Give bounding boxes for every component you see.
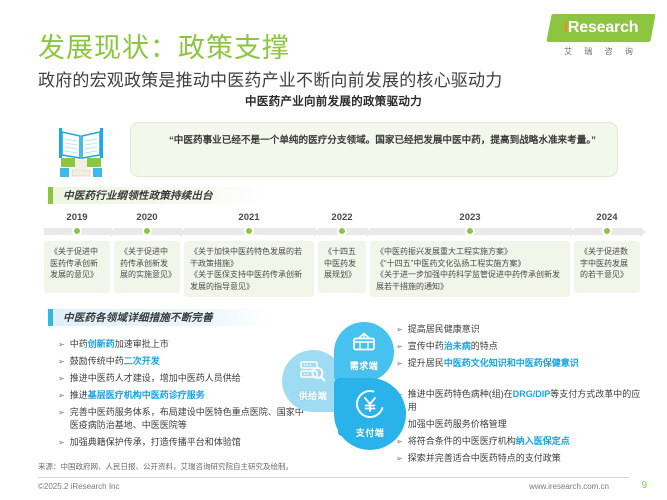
timeline-card: 《中医药振兴发展重大工程实施方案》《“十四五”中医药文化弘扬工程实施方案》《关于…: [370, 241, 570, 297]
website-url: www.iresearch.com.cn: [529, 482, 609, 491]
bullet-text: 提高居民健康意识: [408, 323, 646, 336]
bullet-text: 将符合条件的中医医疗机构纳入医保定点: [408, 435, 646, 448]
bullet-plain: 鼓励传统中药: [70, 356, 124, 366]
timeline-year-label: 2022: [318, 212, 366, 224]
quote-text: “中医药事业已经不是一个单纯的医疗分支领域。国家已经把发展中医中药，提高到战略水…: [147, 132, 601, 149]
timeline-dot: [337, 226, 347, 236]
petal-payment-side: 支付端: [334, 378, 406, 450]
logo-text: iResearch: [549, 14, 653, 42]
supply-side-bullet-list: ➢中药创新药加速审批上市➢鼓励传统中药二次开发➢推进中医药人才建设，增加中医药人…: [58, 338, 308, 453]
bullet-highlight: 创新药: [88, 339, 115, 349]
timeline-policy-item: 《中医药振兴发展重大工程实施方案》: [376, 246, 564, 258]
bullet-highlight: 基层医疗机构中医药诊疗服务: [88, 390, 205, 400]
iresearch-logo: iResearch 艾 瑞 咨 询: [549, 14, 653, 60]
bullet-item: ➢将符合条件的中医医疗机构纳入医保定点: [396, 435, 646, 448]
bullet-text: 提升居民中医药文化知识和中医药保健意识: [408, 357, 646, 370]
section-header-measures-label: 中医药各领域详细措施不断完善: [53, 309, 270, 326]
bullet-plain: 的特点: [471, 341, 498, 351]
bullet-arrow-icon: ➢: [58, 338, 65, 351]
timeline-dot: [72, 226, 82, 236]
timeline-track: [44, 224, 110, 238]
bullet-plain: 加强典籍保护传承，打造传播平台和体验馆: [70, 437, 241, 447]
page-title: 发展现状：政策支撑: [38, 26, 290, 65]
bullet-plain: 推进: [70, 390, 88, 400]
logo-subtitle-cn: 艾 瑞 咨 询: [549, 46, 653, 57]
bullet-text: 完善中医药服务体系，布局建设中医特色重点医院、国家中医疫病防治基地、中医医院等: [70, 406, 308, 432]
timeline-policy-item: 《关于促进数字中医药发展的若干意见》: [580, 246, 634, 281]
bullet-text: 推进中医药特色病种(组)在DRG/DIP等支付方式改革中的应用: [408, 388, 646, 414]
timeline-policy-item: 《关于医保支持中医药传承创新发展的指导意见》: [190, 269, 308, 292]
bullet-item: ➢完善中医药服务体系，布局建设中医特色重点医院、国家中医疫病防治基地、中医医院等: [58, 406, 308, 432]
page-number: 9: [641, 480, 647, 491]
chart-title: 中医药产业向前发展的政策驱动力: [0, 93, 667, 109]
bullet-text: 中药创新药加速审批上市: [70, 338, 308, 351]
timeline-track: [114, 224, 180, 238]
timeline-year-label: 2021: [184, 212, 314, 224]
bullet-item: ➢提升居民中医药文化知识和中医药保健意识: [396, 357, 646, 370]
timeline-policy-item: 《关于促进中医药传承创新发展的意见》: [50, 246, 104, 281]
section-header-policy-label: 中医药行业纲领性政策持续出台: [53, 187, 263, 204]
bullet-item: ➢鼓励传统中药二次开发: [58, 355, 308, 368]
bullet-item: ➢探索并完善适合中医药特点的支付政策: [396, 452, 646, 465]
timeline-dot: [142, 226, 152, 236]
timeline-year-label: 2024: [574, 212, 640, 224]
timeline-card: 《十四五中医药发展规划》: [318, 241, 366, 293]
bullet-text: 推进中医药人才建设，增加中医药人员供给: [70, 372, 308, 385]
timeline-card: 《关于加快中医药特色发展的若干政策措施》《关于医保支持中医药传承创新发展的指导意…: [184, 241, 314, 297]
demand-side-bullet-list: ➢提高居民健康意识➢宣传中药治未病的特点➢提升居民中医药文化知识和中医药保健意识: [396, 323, 646, 374]
bullet-highlight: 治未病: [444, 341, 471, 351]
bullet-plain: 提高居民健康意识: [408, 324, 480, 334]
server-search-icon: [300, 360, 326, 387]
bullet-item: ➢宣传中药治未病的特点: [396, 340, 646, 353]
bullet-text: 鼓励传统中药二次开发: [70, 355, 308, 368]
bullet-arrow-icon: ➢: [58, 436, 65, 449]
footer-divider: [38, 477, 629, 478]
bullet-text: 加强典籍保护传承，打造传播平台和体验馆: [70, 436, 308, 449]
timeline-column-2019: 2019《关于促进中医药传承创新发展的意见》: [44, 212, 110, 300]
open-book-icon: [54, 124, 108, 180]
timeline-column-2020: 2020《关于促进中药传承创新发展的实施意见》: [114, 212, 180, 300]
petal-supply-label: 供给端: [299, 389, 328, 402]
bullet-arrow-icon: ➢: [58, 406, 65, 419]
petal-payment-label: 支付端: [356, 426, 385, 439]
timeline-policy-item: 《关于促进中药传承创新发展的实施意见》: [120, 246, 174, 281]
timeline-column-2023: 2023《中医药振兴发展重大工程实施方案》《“十四五”中医药文化弘扬工程实施方案…: [370, 212, 570, 300]
timeline-dot: [465, 226, 475, 236]
timeline-column-2024: 2024《关于促进数字中医药发展的若干意见》: [574, 212, 640, 300]
timeline-dot: [244, 226, 254, 236]
bullet-arrow-icon: ➢: [58, 389, 65, 402]
bullet-plain: 推进中医药人才建设，增加中医药人员供给: [70, 373, 241, 383]
bullet-arrow-icon: ➢: [58, 355, 65, 368]
timeline-policy-item: 《十四五中医药发展规划》: [324, 246, 360, 281]
logo-main-text: Research: [568, 19, 638, 37]
bullet-plain: 加速审批上市: [115, 339, 169, 349]
timeline-card: 《关于促进中医药传承创新发展的意见》: [44, 241, 110, 293]
timeline-column-2022: 2022《十四五中医药发展规划》: [318, 212, 366, 300]
bullet-text: 加强中医药服务价格管理: [408, 418, 646, 431]
bullet-highlight: 二次开发: [124, 356, 160, 366]
shopping-basket-icon: [352, 332, 376, 357]
bullet-text: 探索并完善适合中医药特点的支付政策: [408, 452, 646, 465]
bullet-plain: 中药: [70, 339, 88, 349]
bullet-item: ➢推进中医药特色病种(组)在DRG/DIP等支付方式改革中的应用: [396, 388, 646, 414]
slide-root: 发展现状：政策支撑 政府的宏观政策是推动中医药产业不断向前发展的核心驱动力 iR…: [0, 0, 667, 500]
bullet-highlight: DRG/DIP: [513, 389, 551, 399]
timeline-track: [184, 224, 314, 238]
bullet-plain: 将符合条件的中医医疗机构: [408, 436, 516, 446]
three-sides-plant-diagram: 供给端 需求端: [282, 322, 414, 454]
bullet-text: 推进基层医疗机构中医药诊疗服务: [70, 389, 308, 402]
timeline-year-label: 2019: [44, 212, 110, 224]
section-header-policy: 中医药行业纲领性政策持续出台: [48, 187, 263, 204]
bullet-item: ➢中药创新药加速审批上市: [58, 338, 308, 351]
timeline-track: [370, 224, 570, 238]
bullet-item: ➢提高居民健康意识: [396, 323, 646, 336]
timeline-card: 《关于促进数字中医药发展的若干意见》: [574, 241, 640, 293]
bullet-arrow-icon: ➢: [58, 372, 65, 385]
bullet-text: 宣传中药治未病的特点: [408, 340, 646, 353]
timeline-card: 《关于促进中药传承创新发展的实施意见》: [114, 241, 180, 293]
page-subtitle: 政府的宏观政策是推动中医药产业不断向前发展的核心驱动力: [38, 66, 502, 91]
timeline-policy-item: 《关于进一步加强中药科学监管促进中药传承创新发展若干措施的通知》: [376, 269, 564, 292]
yuan-currency-icon: [355, 389, 385, 424]
section-header-measures: 中医药各领域详细措施不断完善: [48, 309, 270, 326]
timeline-policy-item: 《“十四五”中医药文化弘扬工程实施方案》: [376, 258, 564, 270]
bullet-plain: 探索并完善适合中医药特点的支付政策: [408, 453, 561, 463]
bullet-highlight: 纳入医保定点: [516, 436, 570, 446]
bullet-highlight: 中医药文化知识和中医药保健意识: [444, 358, 579, 368]
timeline-dot: [602, 226, 612, 236]
policy-timeline: 2019《关于促进中医药传承创新发展的意见》2020《关于促进中药传承创新发展的…: [44, 212, 624, 300]
bullet-plain: 加强中医药服务价格管理: [408, 419, 507, 429]
timeline-year-label: 2023: [370, 212, 570, 224]
bullet-item: ➢推进基层医疗机构中医药诊疗服务: [58, 389, 308, 402]
timeline-track: [574, 224, 640, 238]
timeline-track: [318, 224, 366, 238]
petal-demand-side: 需求端: [334, 322, 394, 382]
bullet-plain: 完善中医药服务体系，布局建设中医特色重点医院、国家中医疫病防治基地、中医医院等: [70, 407, 304, 430]
petal-demand-label: 需求端: [350, 359, 379, 372]
bullet-item: ➢加强中医药服务价格管理: [396, 418, 646, 431]
timeline-policy-item: 《关于加快中医药特色发展的若干政策措施》: [190, 246, 308, 269]
bullet-item: ➢推进中医药人才建设，增加中医药人员供给: [58, 372, 308, 385]
bullet-item: ➢加强典籍保护传承，打造传播平台和体验馆: [58, 436, 308, 449]
quote-row: “中医药事业已经不是一个单纯的医疗分支领域。国家已经把发展中医中药，提高到战略水…: [48, 122, 620, 182]
source-note: 来源：中国政府网、人民日报、公开资料，艾瑞咨询研究院自主研究及绘制。: [38, 461, 293, 472]
copyright-text: ©2025.2 iResearch Inc: [38, 482, 120, 491]
logo-mark: iResearch: [546, 14, 655, 42]
quote-box: “中医药事业已经不是一个单纯的医疗分支领域。国家已经把发展中医中药，提高到战略水…: [130, 122, 618, 177]
timeline-column-2021: 2021《关于加快中医药特色发展的若干政策措施》《关于医保支持中医药传承创新发展…: [184, 212, 314, 300]
timeline-year-label: 2020: [114, 212, 180, 224]
bullet-plain: 推进中医药特色病种(组)在: [408, 389, 513, 399]
payment-side-bullet-list: ➢推进中医药特色病种(组)在DRG/DIP等支付方式改革中的应用➢加强中医药服务…: [396, 388, 646, 469]
